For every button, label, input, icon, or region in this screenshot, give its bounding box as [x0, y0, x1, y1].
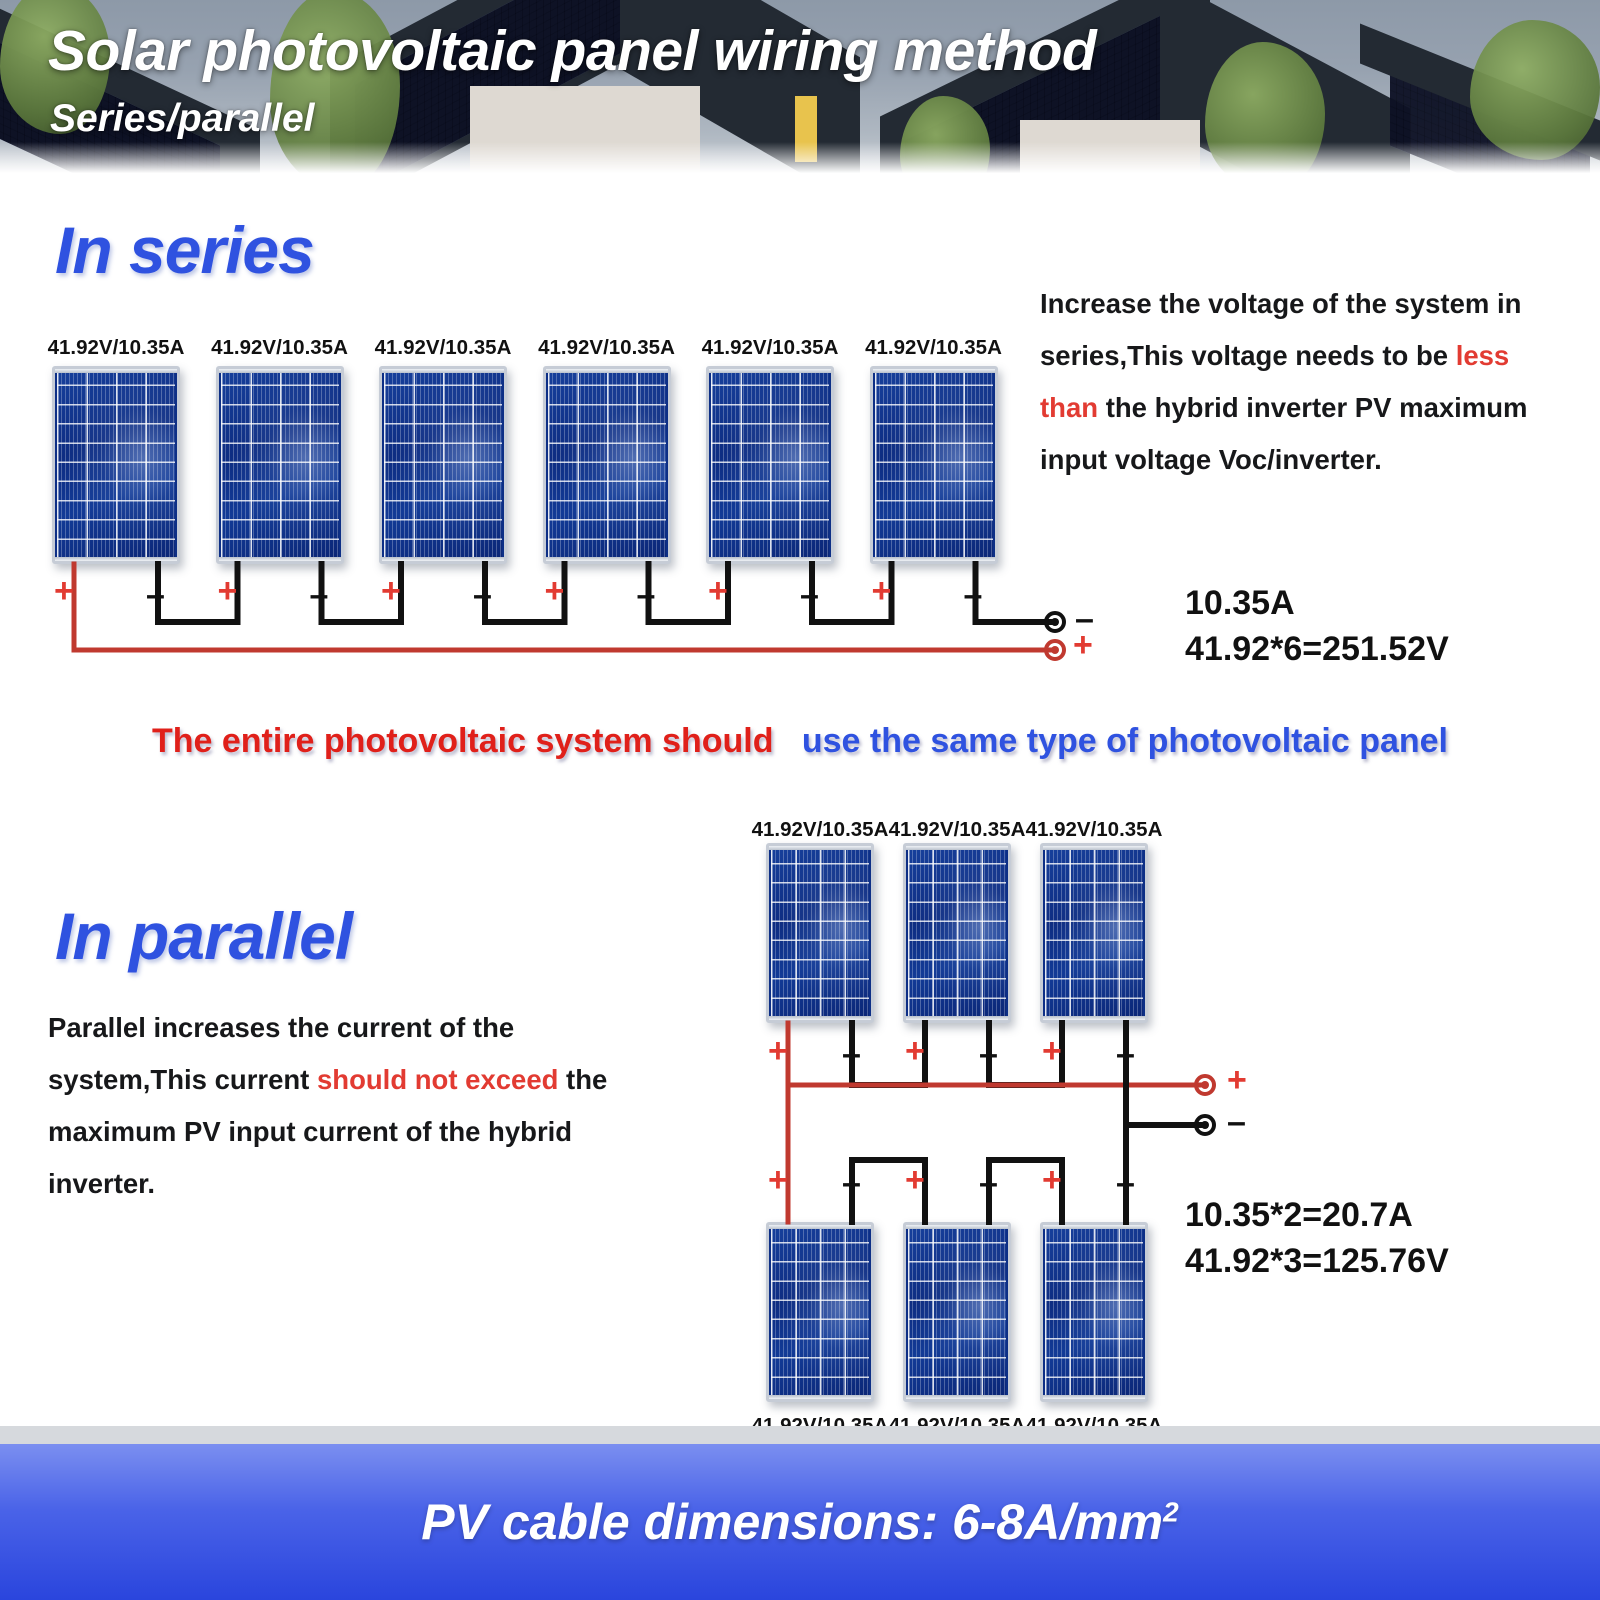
- footer-text-wrap: PV cable dimensions: 6-8A/mm2: [421, 1493, 1178, 1551]
- parallel-top-plus-sign: +: [905, 1034, 925, 1068]
- parallel-bottom-minus-sign: –: [979, 1166, 998, 1200]
- parallel-top-minus-sign: –: [1116, 1037, 1135, 1071]
- parallel-output-negative: –: [1227, 1105, 1246, 1139]
- parallel-top-plus-sign: +: [1042, 1034, 1062, 1068]
- parallel-top-minus-sign: –: [842, 1037, 861, 1071]
- footer-superscript: 2: [1163, 1496, 1179, 1527]
- parallel-top-plus-sign: +: [768, 1034, 788, 1068]
- footer-divider: [0, 1426, 1600, 1444]
- parallel-bottom-plus-sign: +: [1042, 1163, 1062, 1197]
- parallel-output-positive: +: [1227, 1063, 1247, 1097]
- parallel-top-minus-sign: –: [979, 1037, 998, 1071]
- parallel-bottom-plus-sign: +: [905, 1163, 925, 1197]
- terminal-core: [1201, 1081, 1209, 1089]
- infographic-page: Solar photovoltaic panel wiring method S…: [0, 0, 1600, 1600]
- parallel-bottom-plus-sign: +: [768, 1163, 788, 1197]
- parallel-bottom-minus-sign: –: [842, 1166, 861, 1200]
- parallel-wiring-diagram: [0, 0, 1600, 1600]
- terminal-core: [1201, 1121, 1209, 1129]
- parallel-bottom-minus-sign: –: [1116, 1166, 1135, 1200]
- footer-text: PV cable dimensions: 6-8A/mm: [421, 1494, 1163, 1550]
- footer-banner: PV cable dimensions: 6-8A/mm2: [0, 1444, 1600, 1600]
